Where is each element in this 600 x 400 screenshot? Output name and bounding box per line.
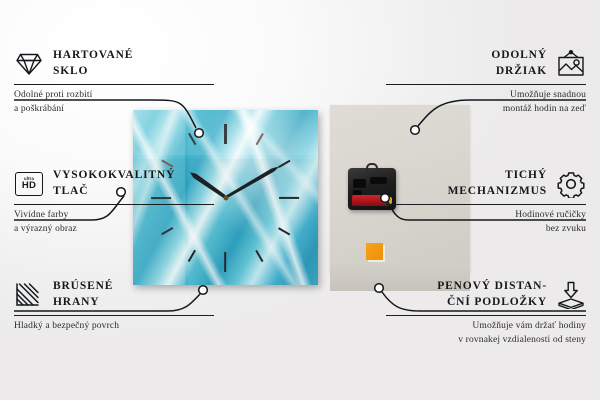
- feature-divider: [386, 204, 586, 205]
- feature-title: PENOVÝ DISTAN- ČNÍ PODLOŽKY: [437, 279, 547, 310]
- feature-subtitle: Hladký a bezpečný povrch: [14, 320, 214, 333]
- clock-tick: [188, 133, 196, 145]
- mechanism-hanger: [366, 163, 378, 171]
- feature-subtitle: Vivídne farby a výrazný obraz: [14, 209, 214, 236]
- clock-tick: [280, 196, 300, 198]
- feature-divider: [386, 315, 586, 316]
- feature-high-quality-print: ultra HD VYSOKOKVALITNÝ TLAČ Vivídne far…: [14, 168, 214, 236]
- feature-subtitle: Umožňuje vám držať hodiny v rovnakej vzd…: [386, 320, 586, 347]
- ultra-hd-icon: ultra HD: [14, 169, 44, 199]
- feature-divider: [14, 84, 214, 85]
- feature-title: HARTOVANÉ SKLO: [53, 48, 133, 79]
- feature-divider: [14, 204, 214, 205]
- spacer-pads-icon: [556, 280, 586, 310]
- diamond-icon: [14, 49, 44, 79]
- feature-divider: [386, 84, 586, 85]
- clock-tick: [224, 124, 226, 144]
- clock-tick: [188, 250, 196, 262]
- mechanism-slot-1: [353, 179, 366, 188]
- clock-tick: [161, 160, 173, 168]
- feature-subtitle: Umožňuje snadnou montáž hodin na zeď: [386, 89, 586, 116]
- clock-hub: [223, 195, 228, 200]
- mechanism-battery: [352, 195, 390, 206]
- feature-subtitle: Odolné proti rozbití a poškrábání: [14, 89, 214, 116]
- mechanism-slot-2: [370, 177, 387, 184]
- feature-title: ODOLNÝ DRŽIAK: [491, 48, 547, 79]
- feature-title: VYSOKOKVALITNÝ TLAČ: [53, 168, 175, 199]
- feature-silent-mechanism: TICHÝ MECHANIZMUS Hodinové ručičky bez z…: [386, 168, 586, 236]
- feature-title: BRÚSENÉ HRANY: [53, 279, 113, 310]
- feature-title: TICHÝ MECHANIZMUS: [448, 168, 547, 199]
- gear-icon: [556, 169, 586, 199]
- clock-tick: [224, 252, 226, 272]
- clock-minute-hand: [224, 165, 280, 200]
- feature-subtitle: Hodinové ručičky bez zvuku: [386, 209, 586, 236]
- clock-tick: [255, 250, 263, 262]
- clock-tick: [255, 133, 263, 145]
- ultra-hd-main-label: HD: [22, 181, 36, 191]
- feature-beveled-edges: BRÚSENÉ HRANY Hladký a bezpečný povrch: [14, 279, 214, 334]
- beveled-edges-icon: [14, 280, 44, 310]
- feature-tempered-glass: HARTOVANÉ SKLO Odolné proti rozbití a po…: [14, 48, 214, 116]
- feature-foam-spacers: PENOVÝ DISTAN- ČNÍ PODLOŽKY Umožňuje vám…: [386, 279, 586, 347]
- feature-durable-hanger: ODOLNÝ DRŽIAK Umožňuje snadnou montáž ho…: [386, 48, 586, 116]
- feature-divider: [14, 315, 214, 316]
- foam-spacer-pad: [366, 243, 383, 260]
- clock-tick: [278, 160, 290, 168]
- clock-tick: [278, 227, 290, 235]
- picture-hanger-icon: [556, 49, 586, 79]
